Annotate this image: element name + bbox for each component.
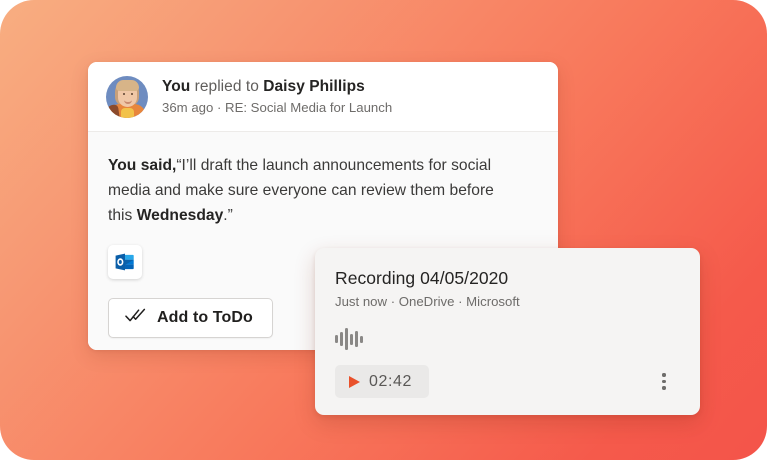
double-check-icon [125, 308, 146, 328]
audio-waveform-icon [335, 328, 680, 350]
message-header-text: You replied to Daisy Phillips 36m ago · … [162, 77, 392, 117]
message-card-header: You replied to Daisy Phillips 36m ago · … [88, 62, 558, 131]
outlook-icon[interactable] [108, 245, 142, 279]
recording-footer: 02:42 [335, 365, 680, 398]
message-title: You replied to Daisy Phillips [162, 77, 392, 97]
recording-duration: 02:42 [369, 373, 412, 391]
avatar [106, 76, 148, 118]
add-to-todo-label: Add to ToDo [157, 309, 253, 327]
message-actor: You [162, 78, 190, 95]
more-vertical-icon[interactable] [650, 368, 678, 396]
message-quote: You said,“I’ll draft the launch announce… [108, 153, 520, 228]
message-action: replied to [190, 78, 263, 95]
add-to-todo-button[interactable]: Add to ToDo [108, 298, 273, 338]
message-recipient[interactable]: Daisy Phillips [263, 78, 365, 95]
play-button[interactable]: 02:42 [335, 365, 429, 398]
play-icon [349, 376, 360, 388]
quote-highlight-day: Wednesday [137, 207, 224, 224]
message-meta: 36m ago · RE: Social Media for Launch [162, 99, 392, 117]
background-panel: You replied to Daisy Phillips 36m ago · … [0, 0, 767, 460]
quote-text-part2: .” [223, 207, 233, 224]
quote-lead: You said, [108, 157, 176, 174]
recording-title: Recording 04/05/2020 [335, 267, 680, 290]
recording-meta: Just now · OneDrive · Microsoft [335, 293, 680, 311]
recording-card: Recording 04/05/2020 Just now · OneDrive… [315, 248, 700, 415]
